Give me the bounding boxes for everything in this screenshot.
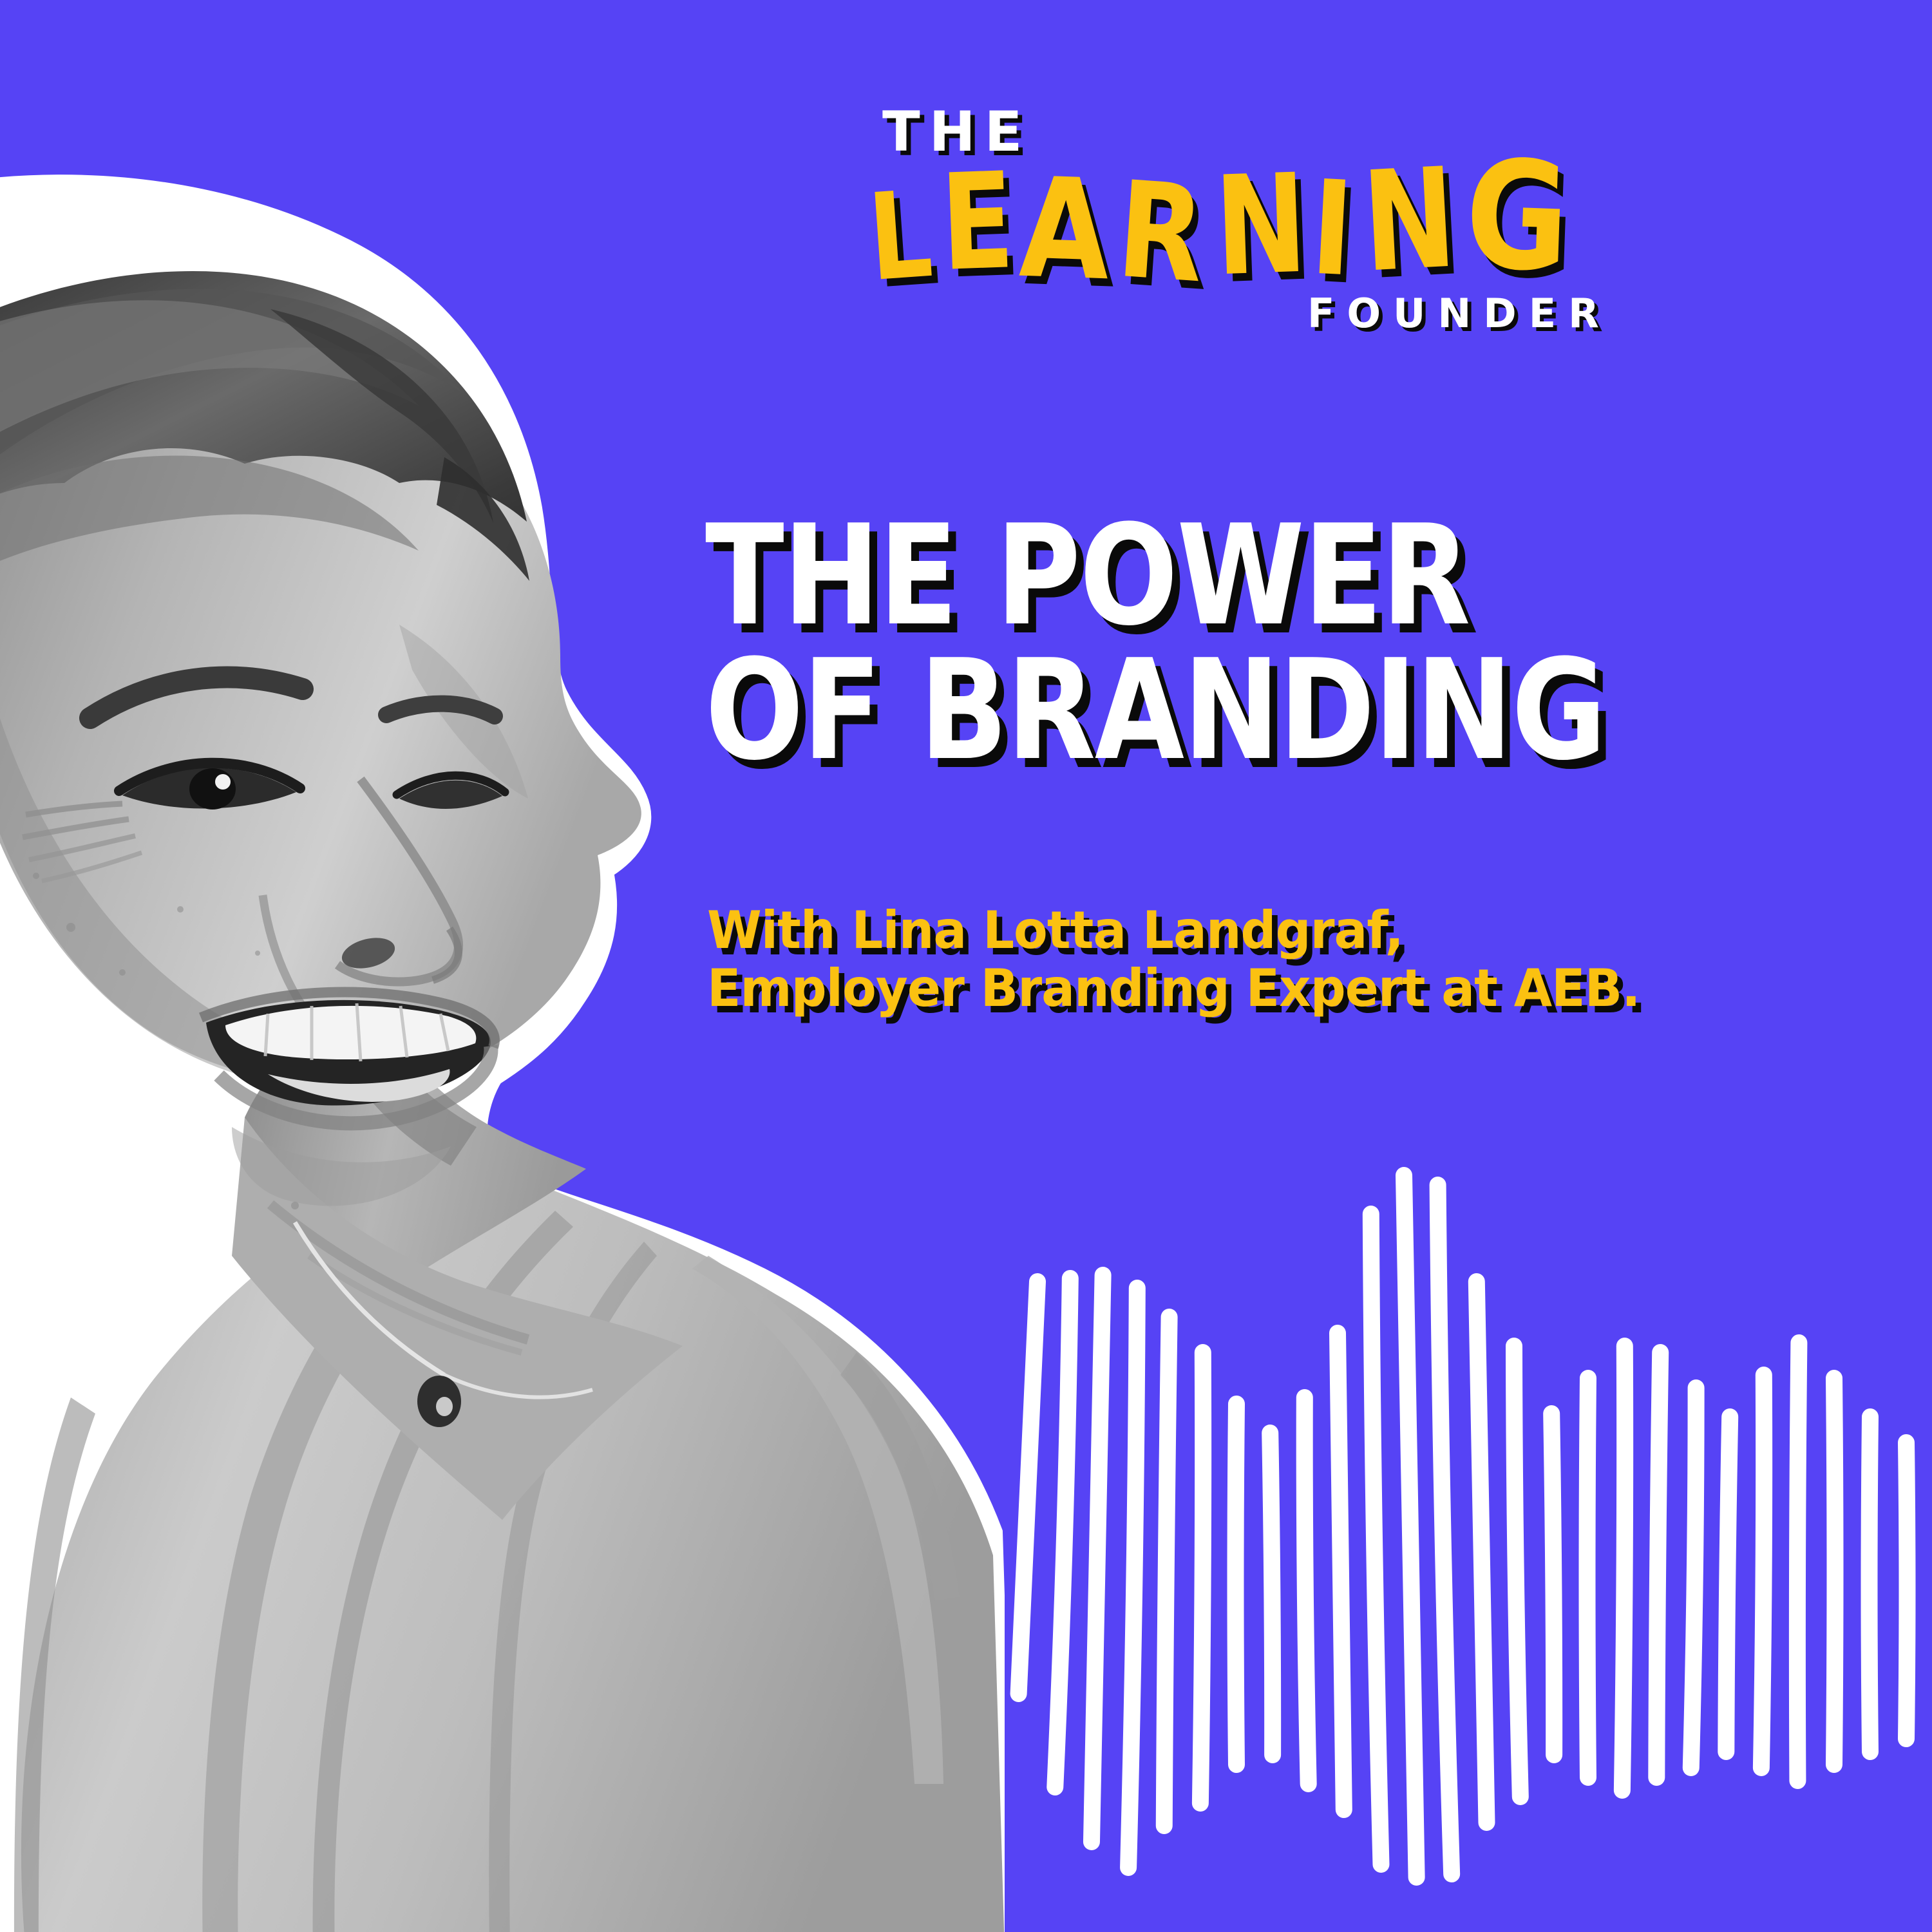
eyebrow-left <box>90 677 303 718</box>
waveform-bar <box>1834 1378 1835 1765</box>
waveform-bar <box>1622 1346 1625 1790</box>
logo-learning-wordmark: L E A R N I N G <box>857 148 1616 303</box>
shoulder-fold <box>692 1256 943 1784</box>
hair-highlight-1 <box>0 289 462 670</box>
eye-highlight-left <box>215 774 231 790</box>
episode-subtitle-line-2: Employer Branding Expert at AEB. <box>707 960 1882 1018</box>
shoulder-fold-2 <box>840 1352 960 1601</box>
logo-letter-R: R <box>1113 164 1208 302</box>
cheek-shadow <box>399 625 528 799</box>
pupil-left <box>189 768 236 810</box>
teeth-gaps <box>265 1003 448 1061</box>
logo-letter-I: I <box>1308 162 1356 294</box>
logo-letter-L: L <box>865 175 936 298</box>
waveform-bar <box>1726 1417 1730 1752</box>
logo-letter-N2: N <box>1359 149 1459 292</box>
photo-cutout-outline <box>0 185 1005 1932</box>
upper-teeth <box>225 1006 476 1059</box>
waveform-bar <box>1797 1343 1799 1781</box>
lapel-fold <box>202 1160 489 1932</box>
crowsfoot-1 <box>26 804 122 815</box>
lower-lip <box>219 1046 491 1123</box>
eye-left <box>122 768 296 808</box>
necklace-chain-right <box>444 1375 592 1397</box>
logo-letter-A: A <box>1018 160 1112 301</box>
face <box>0 365 641 1090</box>
podcast-cover-art: THE L E A R N I N G FOUNDER THE POWER OF… <box>0 0 1932 1932</box>
waveform-bar <box>1404 1175 1417 1877</box>
waveform-bar <box>1019 1282 1037 1694</box>
logo-founder-text: FOUNDER <box>1307 290 1611 337</box>
blouse-shadow-left <box>14 1397 95 1932</box>
waveform-bar <box>1236 1404 1237 1765</box>
waveform-bar <box>1128 1288 1137 1868</box>
waveform-bar <box>1305 1397 1309 1784</box>
waveform-bar <box>1514 1346 1520 1797</box>
crowsfoot-2 <box>23 819 129 837</box>
episode-subtitle-line-1: With Lina Lotta Landgraf, <box>707 902 1882 960</box>
collarbone-2 <box>309 1256 522 1352</box>
waveform-bar <box>1587 1378 1589 1777</box>
nose-bridge <box>337 779 459 982</box>
side-hair <box>437 457 529 581</box>
waveform-bar <box>1656 1352 1660 1777</box>
mouth-opening <box>206 1000 491 1106</box>
waveform-bar <box>1870 1417 1871 1752</box>
eyebrow-right <box>386 704 495 716</box>
episode-subtitle: With Lina Lotta Landgraf, Employer Brand… <box>707 902 1931 1017</box>
waveform-bar <box>1338 1333 1344 1810</box>
audio-waveform-icon <box>1005 1301 1932 1880</box>
neck-shadow <box>322 998 477 1166</box>
crowsfoot-4 <box>42 853 142 881</box>
waveform-bar <box>1477 1282 1487 1823</box>
logo-letter-G: G <box>1463 140 1571 292</box>
nose-tip-shadow <box>433 929 459 980</box>
neck <box>245 992 586 1294</box>
seam-line-2 <box>489 1242 657 1932</box>
chin-shadow <box>232 1127 451 1206</box>
hairline <box>0 456 419 586</box>
logo-letter-N: N <box>1213 156 1309 296</box>
hair-swoop <box>270 309 493 523</box>
seam-line <box>313 1211 573 1932</box>
hair-highlight-2 <box>0 300 419 499</box>
waveform-bar <box>1371 1214 1381 1864</box>
eyelash-left <box>119 763 300 791</box>
waveform-bar <box>1438 1185 1452 1874</box>
pendant-highlight <box>436 1397 453 1416</box>
necklace-chain-left <box>295 1222 444 1375</box>
blouse <box>21 1153 1005 1932</box>
waveform-bar <box>1092 1275 1103 1842</box>
waveform-bar <box>1906 1443 1908 1739</box>
waveform-bar <box>1691 1388 1696 1768</box>
necklace-pendant <box>417 1376 461 1427</box>
eye-right <box>399 781 502 809</box>
logo-letter-E: E <box>939 155 1016 290</box>
eyelash-right <box>397 775 505 795</box>
jaw-shadow <box>0 676 399 1083</box>
waveform-bar <box>1270 1433 1273 1755</box>
waveform-bar <box>1164 1317 1170 1826</box>
waveform-bar <box>1200 1352 1203 1803</box>
hair <box>0 271 527 747</box>
nostril <box>339 933 398 973</box>
mouth <box>201 992 495 1124</box>
nasolabial-fold <box>263 895 335 1043</box>
chest <box>232 1117 683 1520</box>
episode-title-line-1: THE POWER <box>705 509 1831 643</box>
skin-texture <box>33 873 299 1209</box>
episode-title: THE POWER OF BRANDING <box>705 509 1916 777</box>
podcast-logo: THE L E A R N I N G FOUNDER <box>857 97 1616 374</box>
waveform-bar <box>1551 1414 1554 1755</box>
upper-lip <box>201 992 495 1047</box>
waveform-bar <box>1761 1375 1764 1768</box>
episode-title-line-2: OF BRANDING <box>705 643 1831 778</box>
crowsfoot-3 <box>29 836 135 860</box>
waveform-bar <box>1055 1278 1070 1787</box>
collarbone <box>270 1204 528 1340</box>
lower-teeth <box>268 1069 450 1102</box>
